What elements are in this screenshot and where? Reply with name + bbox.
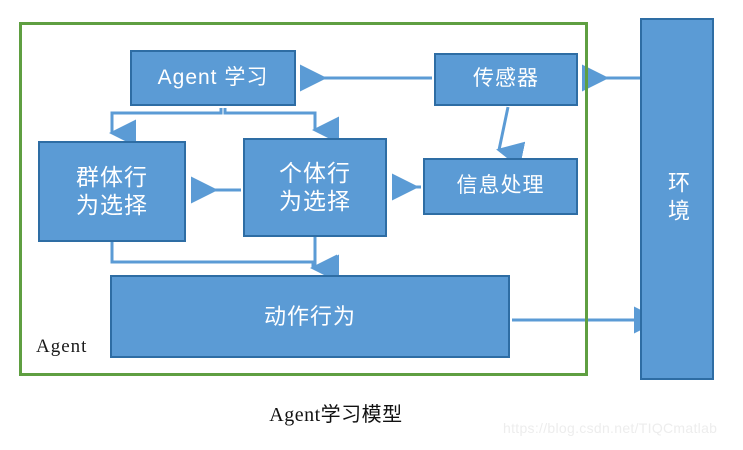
node-action-behavior[interactable]: 动作行为 bbox=[110, 275, 510, 358]
node-sensor-label: 传感器 bbox=[473, 67, 539, 92]
node-information-processing[interactable]: 信息处理 bbox=[423, 158, 578, 215]
node-agent-learning-label: Agent 学习 bbox=[158, 66, 269, 91]
agent-frame-label: Agent bbox=[36, 336, 87, 358]
watermark-text: https://blog.csdn.net/TIQCmatlab bbox=[503, 420, 717, 436]
node-sensor[interactable]: 传感器 bbox=[434, 53, 578, 106]
node-individual-behavior-label: 个体行 为选择 bbox=[279, 160, 351, 214]
node-information-processing-label: 信息处理 bbox=[457, 174, 545, 199]
node-individual-behavior-selection[interactable]: 个体行 为选择 bbox=[243, 138, 387, 237]
node-action-behavior-label: 动作行为 bbox=[264, 304, 356, 330]
node-environment-label: 环境 bbox=[664, 171, 690, 227]
node-environment[interactable]: 环境 bbox=[640, 18, 714, 380]
diagram-canvas: Agent 学习 传感器 群体行 为选择 个体行 为选择 信息处理 动作行为 环… bbox=[0, 0, 743, 450]
node-agent-learning[interactable]: Agent 学习 bbox=[130, 50, 296, 106]
node-group-behavior-label: 群体行 为选择 bbox=[76, 164, 148, 218]
node-group-behavior-selection[interactable]: 群体行 为选择 bbox=[38, 141, 186, 242]
